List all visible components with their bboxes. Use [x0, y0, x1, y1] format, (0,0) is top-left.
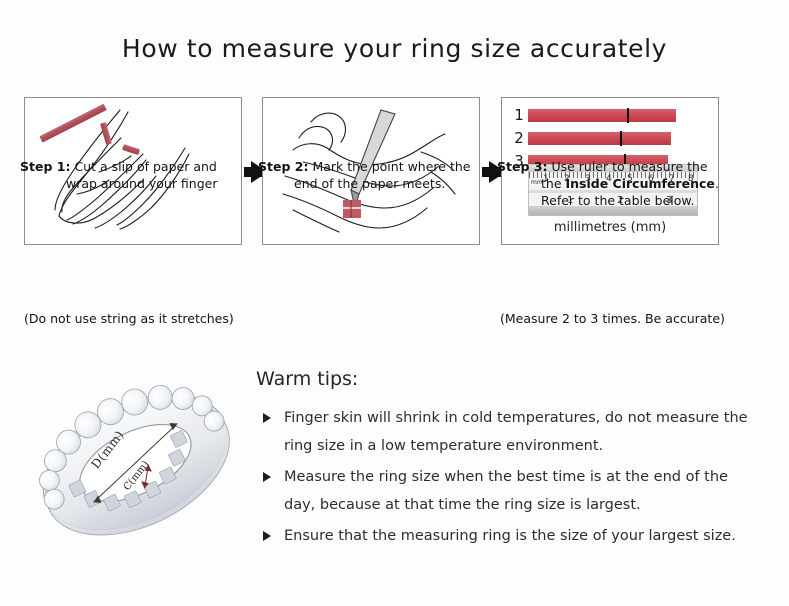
step-3-line3: Refer to the table below.	[541, 193, 694, 208]
step-3-line2-post: .	[715, 176, 719, 191]
step-3-line2-pre: the	[541, 176, 566, 191]
tip-text: Measure the ring size when the best time…	[284, 469, 728, 513]
warm-tips-heading: Warm tips:	[256, 368, 358, 390]
step-1-line1: Cut a slip of paper and	[74, 159, 216, 174]
step-1-note: (Do not use string as it stretches)	[24, 311, 234, 326]
measured-strip-row: 2	[510, 129, 676, 147]
strip-bar	[528, 109, 676, 122]
ruler-unit-label: millimetres (mm)	[502, 220, 718, 235]
page-title: How to measure your ring size accurately	[0, 34, 789, 63]
eternity-ring-photo	[28, 362, 243, 562]
step-1-caption: Step 1: Cut a slip of paper and wrap aro…	[20, 158, 248, 192]
measured-strip-row: 1	[510, 106, 676, 124]
step-2-caption: Step 2: Mark the point where the end of …	[258, 158, 486, 192]
tip-item: Measure the ring size when the best time…	[258, 463, 758, 519]
step-2-line2: end of the paper meets.	[294, 176, 445, 191]
bullet-triangle-icon	[263, 472, 271, 482]
step-3-label: Step 3:	[497, 159, 547, 174]
ring-diagram: D(mm) C(mm)	[28, 362, 243, 562]
steps-row: 1 2 3 mm 1 2 3	[0, 95, 789, 340]
step-2-label: Step 2:	[258, 159, 308, 174]
step-2-line1: Mark the point where the	[312, 159, 470, 174]
tip-item: Finger skin will shrink in cold temperat…	[258, 404, 758, 460]
tip-text: Finger skin will shrink in cold temperat…	[284, 410, 748, 454]
step-3-caption: Step 3: Use ruler to measure the the Ins…	[497, 158, 732, 209]
paper-slip-on-finger	[343, 200, 361, 218]
strip-bar	[528, 132, 671, 145]
strip-number: 2	[510, 129, 528, 147]
warm-tips-list: Finger skin will shrink in cold temperat…	[258, 404, 758, 553]
ring-size-guide-page: How to measure your ring size accurately	[0, 0, 789, 606]
bullet-triangle-icon	[263, 531, 271, 541]
tip-item: Ensure that the measuring ring is the si…	[258, 522, 758, 550]
strip-number: 1	[510, 106, 528, 124]
bullet-triangle-icon	[263, 413, 271, 423]
tip-text: Ensure that the measuring ring is the si…	[284, 528, 736, 544]
mark-tick-icon	[627, 108, 629, 123]
step-3-note: (Measure 2 to 3 times. Be accurate)	[500, 311, 725, 326]
step-3-line1: Use ruler to measure the	[551, 159, 707, 174]
step-1-label: Step 1:	[20, 159, 70, 174]
mark-tick-icon	[620, 131, 622, 146]
step-1-line2: wrap around your finger	[66, 176, 218, 191]
step-3-inside-circumference: Inside Circumference	[566, 176, 715, 191]
